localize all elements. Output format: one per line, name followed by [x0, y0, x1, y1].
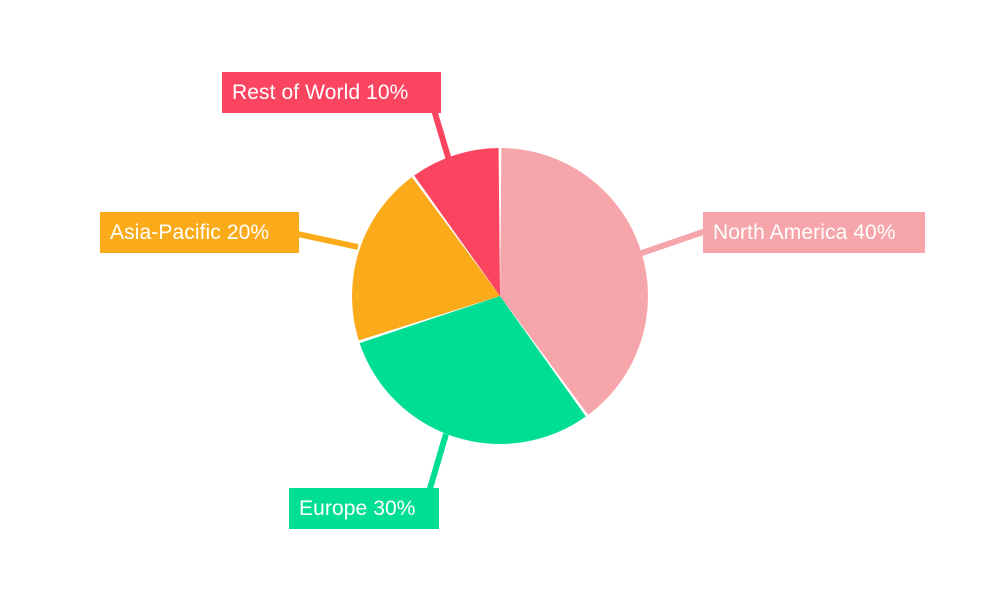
pie-label-north-america-text: North America 40% [713, 222, 896, 243]
pie-label-north-america: North America 40% [703, 212, 925, 253]
pie-label-europe-text: Europe 30% [299, 498, 416, 519]
pie-label-europe: Europe 30% [289, 488, 439, 529]
leader-line-north-america [639, 231, 706, 254]
pie-label-asia-pacific-text: Asia-Pacific 20% [110, 222, 269, 243]
pie-slices [352, 148, 648, 444]
leader-line-asia-pacific [293, 233, 358, 247]
pie-label-asia-pacific: Asia-Pacific 20% [100, 212, 299, 253]
pie-chart-figure: North America 40% Europe 30% Asia-Pacifi… [0, 0, 1000, 600]
pie-label-rest-of-world: Rest of World 10% [222, 72, 441, 113]
pie-label-rest-of-world-text: Rest of World 10% [232, 82, 408, 103]
pie-chart-canvas [0, 0, 1000, 600]
